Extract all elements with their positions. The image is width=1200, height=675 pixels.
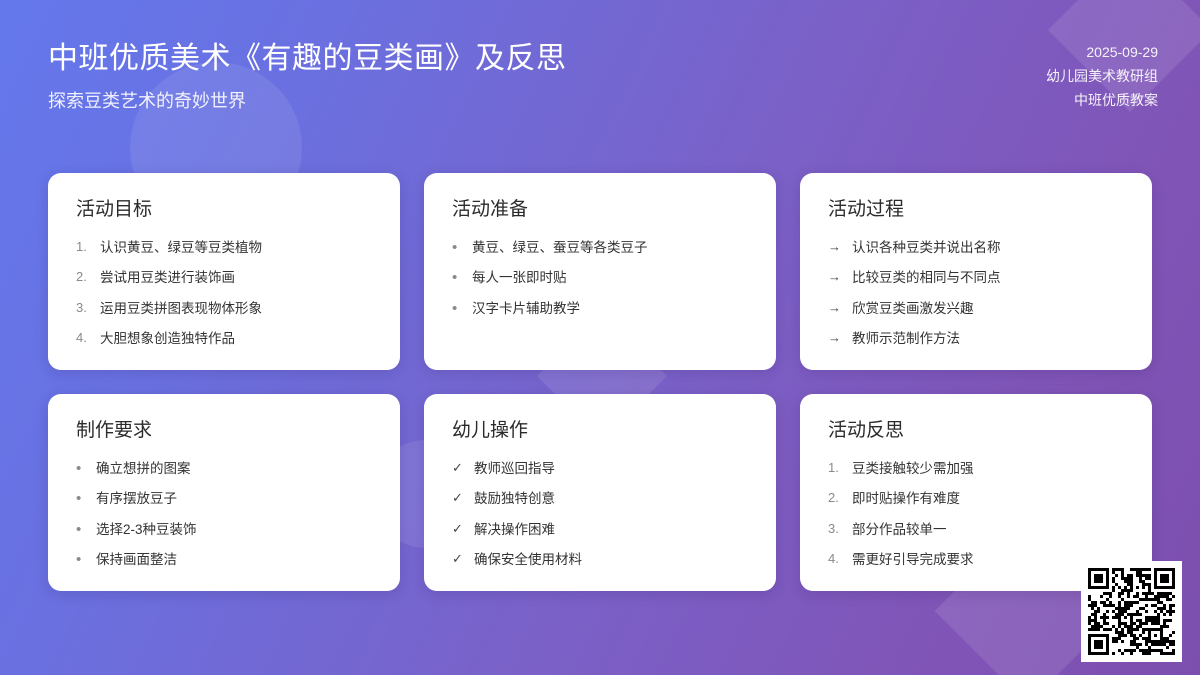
list-item-label: 教师示范制作方法 — [852, 329, 960, 349]
list-item-label: 黄豆、绿豆、蚕豆等各类豆子 — [472, 238, 648, 258]
list-marker-number: 2. — [76, 268, 92, 287]
slide-header: 中班优质美术《有趣的豆类画》及反思 探索豆类艺术的奇妙世界 2025-09-29… — [0, 0, 1200, 150]
list-item: →认识各种豆类并说出名称 — [828, 238, 1126, 258]
bullet-icon: • — [452, 299, 464, 319]
list-item-label: 运用豆类拼图表现物体形象 — [100, 299, 262, 319]
list-item: •汉字卡片辅助教学 — [452, 299, 750, 319]
arrow-right-icon: → — [828, 299, 844, 318]
arrow-right-icon: → — [828, 329, 844, 348]
list-item-label: 比较豆类的相同与不同点 — [852, 268, 1001, 288]
bullet-icon: • — [452, 238, 464, 258]
meta-category: 中班优质教案 — [1046, 88, 1158, 112]
list-item-label: 确保安全使用材料 — [474, 550, 582, 570]
content-card: 制作要求•确立想拼的图案•有序摆放豆子•选择2-3种豆装饰•保持画面整洁 — [48, 394, 400, 591]
qr-code-icon — [1088, 568, 1175, 655]
bullet-icon: • — [76, 550, 88, 570]
meta-group: 幼儿园美术教研组 — [1046, 64, 1158, 88]
list-item: 3.部分作品较单一 — [828, 520, 1126, 540]
list-item-label: 豆类接触较少需加强 — [852, 459, 974, 479]
list-marker-number: 3. — [76, 299, 92, 318]
header-meta: 2025-09-29 幼儿园美术教研组 中班优质教案 — [1046, 40, 1158, 112]
card-title: 活动目标 — [76, 199, 374, 222]
header-text-block: 中班优质美术《有趣的豆类画》及反思 探索豆类艺术的奇妙世界 — [48, 40, 567, 113]
list-item-label: 大胆想象创造独特作品 — [100, 329, 235, 349]
bullet-icon: • — [76, 459, 88, 479]
list-item-label: 教师巡回指导 — [474, 459, 555, 479]
list-item-label: 有序摆放豆子 — [96, 489, 177, 509]
arrow-right-icon: → — [828, 268, 844, 287]
list-item: 1.认识黄豆、绿豆等豆类植物 — [76, 238, 374, 258]
content-card-grid: 活动目标1.认识黄豆、绿豆等豆类植物2.尝试用豆类进行装饰画3.运用豆类拼图表现… — [48, 173, 1152, 591]
list-item: ✓确保安全使用材料 — [452, 550, 750, 570]
card-title: 活动准备 — [452, 199, 750, 222]
list-marker-number: 1. — [828, 459, 844, 478]
list-item: 2.尝试用豆类进行装饰画 — [76, 268, 374, 288]
list-item-label: 欣赏豆类画激发兴趣 — [852, 299, 974, 319]
list-item: •确立想拼的图案 — [76, 459, 374, 479]
bullet-icon: • — [76, 489, 88, 509]
card-item-list: •黄豆、绿豆、蚕豆等各类豆子•每人一张即时贴•汉字卡片辅助教学 — [452, 238, 750, 319]
list-item: •有序摆放豆子 — [76, 489, 374, 509]
list-marker-number: 4. — [76, 329, 92, 348]
content-card: 活动过程→认识各种豆类并说出名称→比较豆类的相同与不同点→欣赏豆类画激发兴趣→教… — [800, 173, 1152, 370]
list-item-label: 即时贴操作有难度 — [852, 489, 960, 509]
check-icon: ✓ — [452, 489, 466, 508]
list-item: 1.豆类接触较少需加强 — [828, 459, 1126, 479]
bullet-icon: • — [452, 268, 464, 288]
list-item-label: 部分作品较单一 — [852, 520, 947, 540]
page-title: 中班优质美术《有趣的豆类画》及反思 — [48, 40, 567, 78]
list-item-label: 汉字卡片辅助教学 — [472, 299, 580, 319]
list-item: 4.大胆想象创造独特作品 — [76, 329, 374, 349]
list-item: ✓鼓励独特创意 — [452, 489, 750, 509]
card-title: 活动过程 — [828, 199, 1126, 222]
content-card: 幼儿操作✓教师巡回指导✓鼓励独特创意✓解决操作困难✓确保安全使用材料 — [424, 394, 776, 591]
list-item: •保持画面整洁 — [76, 550, 374, 570]
page-subtitle: 探索豆类艺术的奇妙世界 — [48, 90, 567, 113]
list-item: 2.即时贴操作有难度 — [828, 489, 1126, 509]
bullet-icon: • — [76, 520, 88, 540]
card-item-list: 1.豆类接触较少需加强2.即时贴操作有难度3.部分作品较单一4.需更好引导完成要… — [828, 459, 1126, 570]
list-item: •黄豆、绿豆、蚕豆等各类豆子 — [452, 238, 750, 258]
list-item-label: 选择2-3种豆装饰 — [96, 520, 197, 540]
list-item: →欣赏豆类画激发兴趣 — [828, 299, 1126, 319]
slide-canvas: 中班优质美术《有趣的豆类画》及反思 探索豆类艺术的奇妙世界 2025-09-29… — [0, 0, 1200, 675]
list-item-label: 每人一张即时贴 — [472, 268, 567, 288]
card-title: 幼儿操作 — [452, 420, 750, 443]
content-card: 活动目标1.认识黄豆、绿豆等豆类植物2.尝试用豆类进行装饰画3.运用豆类拼图表现… — [48, 173, 400, 370]
check-icon: ✓ — [452, 459, 466, 478]
list-item: •每人一张即时贴 — [452, 268, 750, 288]
list-item-label: 认识黄豆、绿豆等豆类植物 — [100, 238, 262, 258]
list-marker-number: 1. — [76, 238, 92, 257]
card-title: 活动反思 — [828, 420, 1126, 443]
arrow-right-icon: → — [828, 238, 844, 257]
list-item-label: 需更好引导完成要求 — [852, 550, 974, 570]
list-marker-number: 3. — [828, 520, 844, 539]
list-item: →比较豆类的相同与不同点 — [828, 268, 1126, 288]
qr-code-panel[interactable] — [1081, 561, 1182, 662]
list-item-label: 认识各种豆类并说出名称 — [852, 238, 1001, 258]
list-item-label: 解决操作困难 — [474, 520, 555, 540]
list-marker-number: 2. — [828, 489, 844, 508]
card-item-list: 1.认识黄豆、绿豆等豆类植物2.尝试用豆类进行装饰画3.运用豆类拼图表现物体形象… — [76, 238, 374, 349]
list-item-label: 尝试用豆类进行装饰画 — [100, 268, 235, 288]
card-title: 制作要求 — [76, 420, 374, 443]
list-item-label: 保持画面整洁 — [96, 550, 177, 570]
content-card: 活动准备•黄豆、绿豆、蚕豆等各类豆子•每人一张即时贴•汉字卡片辅助教学 — [424, 173, 776, 370]
card-item-list: •确立想拼的图案•有序摆放豆子•选择2-3种豆装饰•保持画面整洁 — [76, 459, 374, 570]
meta-date: 2025-09-29 — [1046, 40, 1158, 64]
check-icon: ✓ — [452, 550, 466, 569]
card-item-list: ✓教师巡回指导✓鼓励独特创意✓解决操作困难✓确保安全使用材料 — [452, 459, 750, 570]
list-marker-number: 4. — [828, 550, 844, 569]
list-item: ✓解决操作困难 — [452, 520, 750, 540]
card-item-list: →认识各种豆类并说出名称→比较豆类的相同与不同点→欣赏豆类画激发兴趣→教师示范制… — [828, 238, 1126, 349]
list-item: •选择2-3种豆装饰 — [76, 520, 374, 540]
check-icon: ✓ — [452, 520, 466, 539]
list-item: →教师示范制作方法 — [828, 329, 1126, 349]
list-item: ✓教师巡回指导 — [452, 459, 750, 479]
list-item: 3.运用豆类拼图表现物体形象 — [76, 299, 374, 319]
list-item-label: 鼓励独特创意 — [474, 489, 555, 509]
list-item-label: 确立想拼的图案 — [96, 459, 191, 479]
